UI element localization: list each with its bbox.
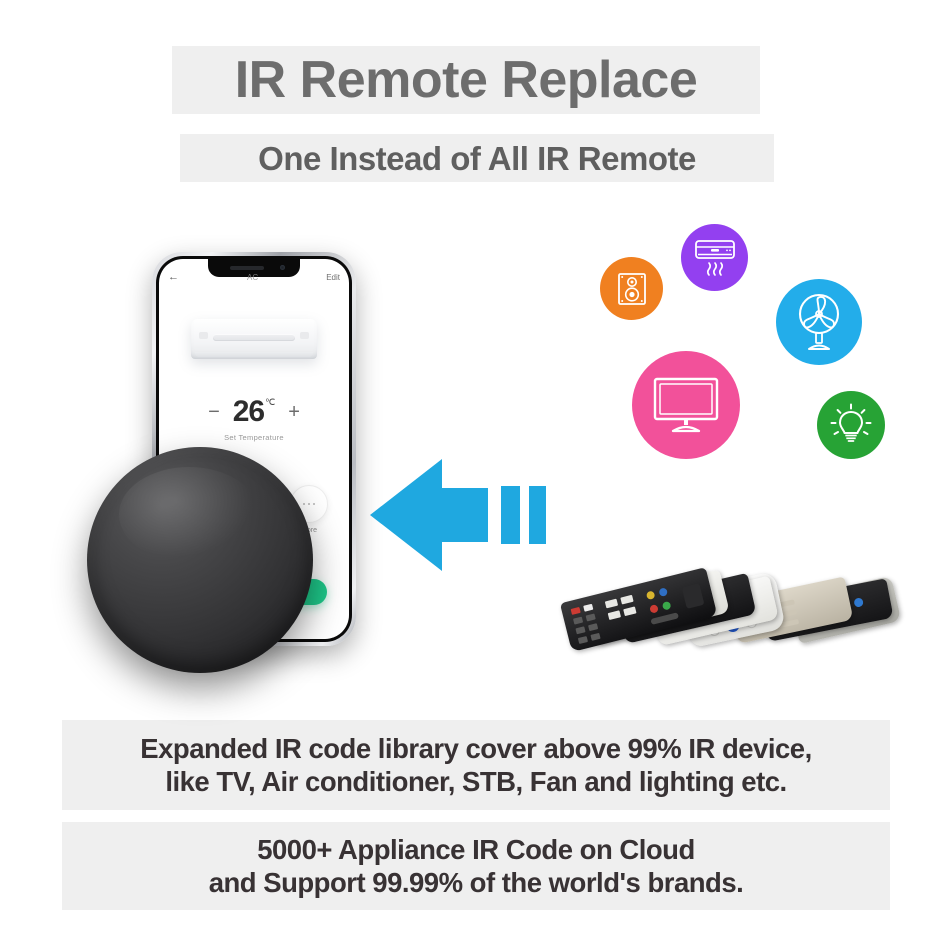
feature-description: Expanded IR code library cover above 99%… <box>62 720 890 810</box>
temperature-caption: Set Temperature <box>159 433 349 442</box>
title-text: IR Remote Replace <box>235 54 698 106</box>
ac-right-panel <box>300 332 309 339</box>
appliance-bubble-television <box>632 351 740 459</box>
appliance-bubble-light-bulb <box>817 391 885 459</box>
page-subtitle: One Instead of All IR Remote <box>180 134 774 182</box>
speaker-icon <box>617 272 647 306</box>
back-arrow-icon[interactable]: ← <box>168 272 179 283</box>
app-header: ← AC Edit <box>159 267 349 287</box>
cloud-line-2: and Support 99.99% of the world's brands… <box>209 866 744 899</box>
air-conditioner-illustration <box>191 319 317 359</box>
ir-hub-device <box>87 447 313 673</box>
ac-vent <box>213 334 295 341</box>
subtitle-text: One Instead of All IR Remote <box>258 142 696 175</box>
stack-of-ir-remote-controls <box>572 522 902 652</box>
tv-icon <box>653 377 719 433</box>
page-title: IR Remote Replace <box>172 46 760 114</box>
light-bulb-icon <box>829 403 873 447</box>
edit-button[interactable]: Edit <box>326 273 340 282</box>
arrow-bar-2 <box>529 486 546 544</box>
feature-line-2: like TV, Air conditioner, STB, Fan and l… <box>165 765 786 798</box>
three-dots-icon <box>308 503 311 506</box>
arrow-bar-1 <box>501 486 520 544</box>
temperature-value: 26 <box>233 397 264 427</box>
appliance-bubble-air-conditioner <box>681 224 748 291</box>
temperature-increase-button[interactable]: + <box>288 397 300 427</box>
app-title: AC <box>247 273 258 282</box>
temperature-control-row: − 26 ℃ + <box>159 397 349 427</box>
feature-line-1: Expanded IR code library cover above 99%… <box>140 732 811 765</box>
cloud-description: 5000+ Appliance IR Code on Cloud and Sup… <box>62 822 890 910</box>
hub-highlight <box>119 467 259 562</box>
ac-left-panel <box>199 332 208 339</box>
cloud-line-1: 5000+ Appliance IR Code on Cloud <box>257 833 695 866</box>
three-dots-icon <box>303 503 306 506</box>
fan-icon <box>791 292 847 352</box>
temperature-readout: 26 ℃ <box>233 397 275 427</box>
arrow-head-and-shaft <box>370 459 488 571</box>
air-conditioner-icon <box>693 237 737 279</box>
ac-bottom-lip <box>195 352 313 357</box>
left-arrow-icon <box>370 455 560 575</box>
product-poster: IR Remote Replace One Instead of All IR … <box>0 0 950 950</box>
three-dots-icon <box>313 503 316 506</box>
temperature-unit: ℃ <box>265 397 275 408</box>
appliance-bubble-speaker <box>600 257 663 320</box>
temperature-decrease-button[interactable]: − <box>208 397 220 427</box>
appliance-bubble-fan <box>776 279 862 365</box>
